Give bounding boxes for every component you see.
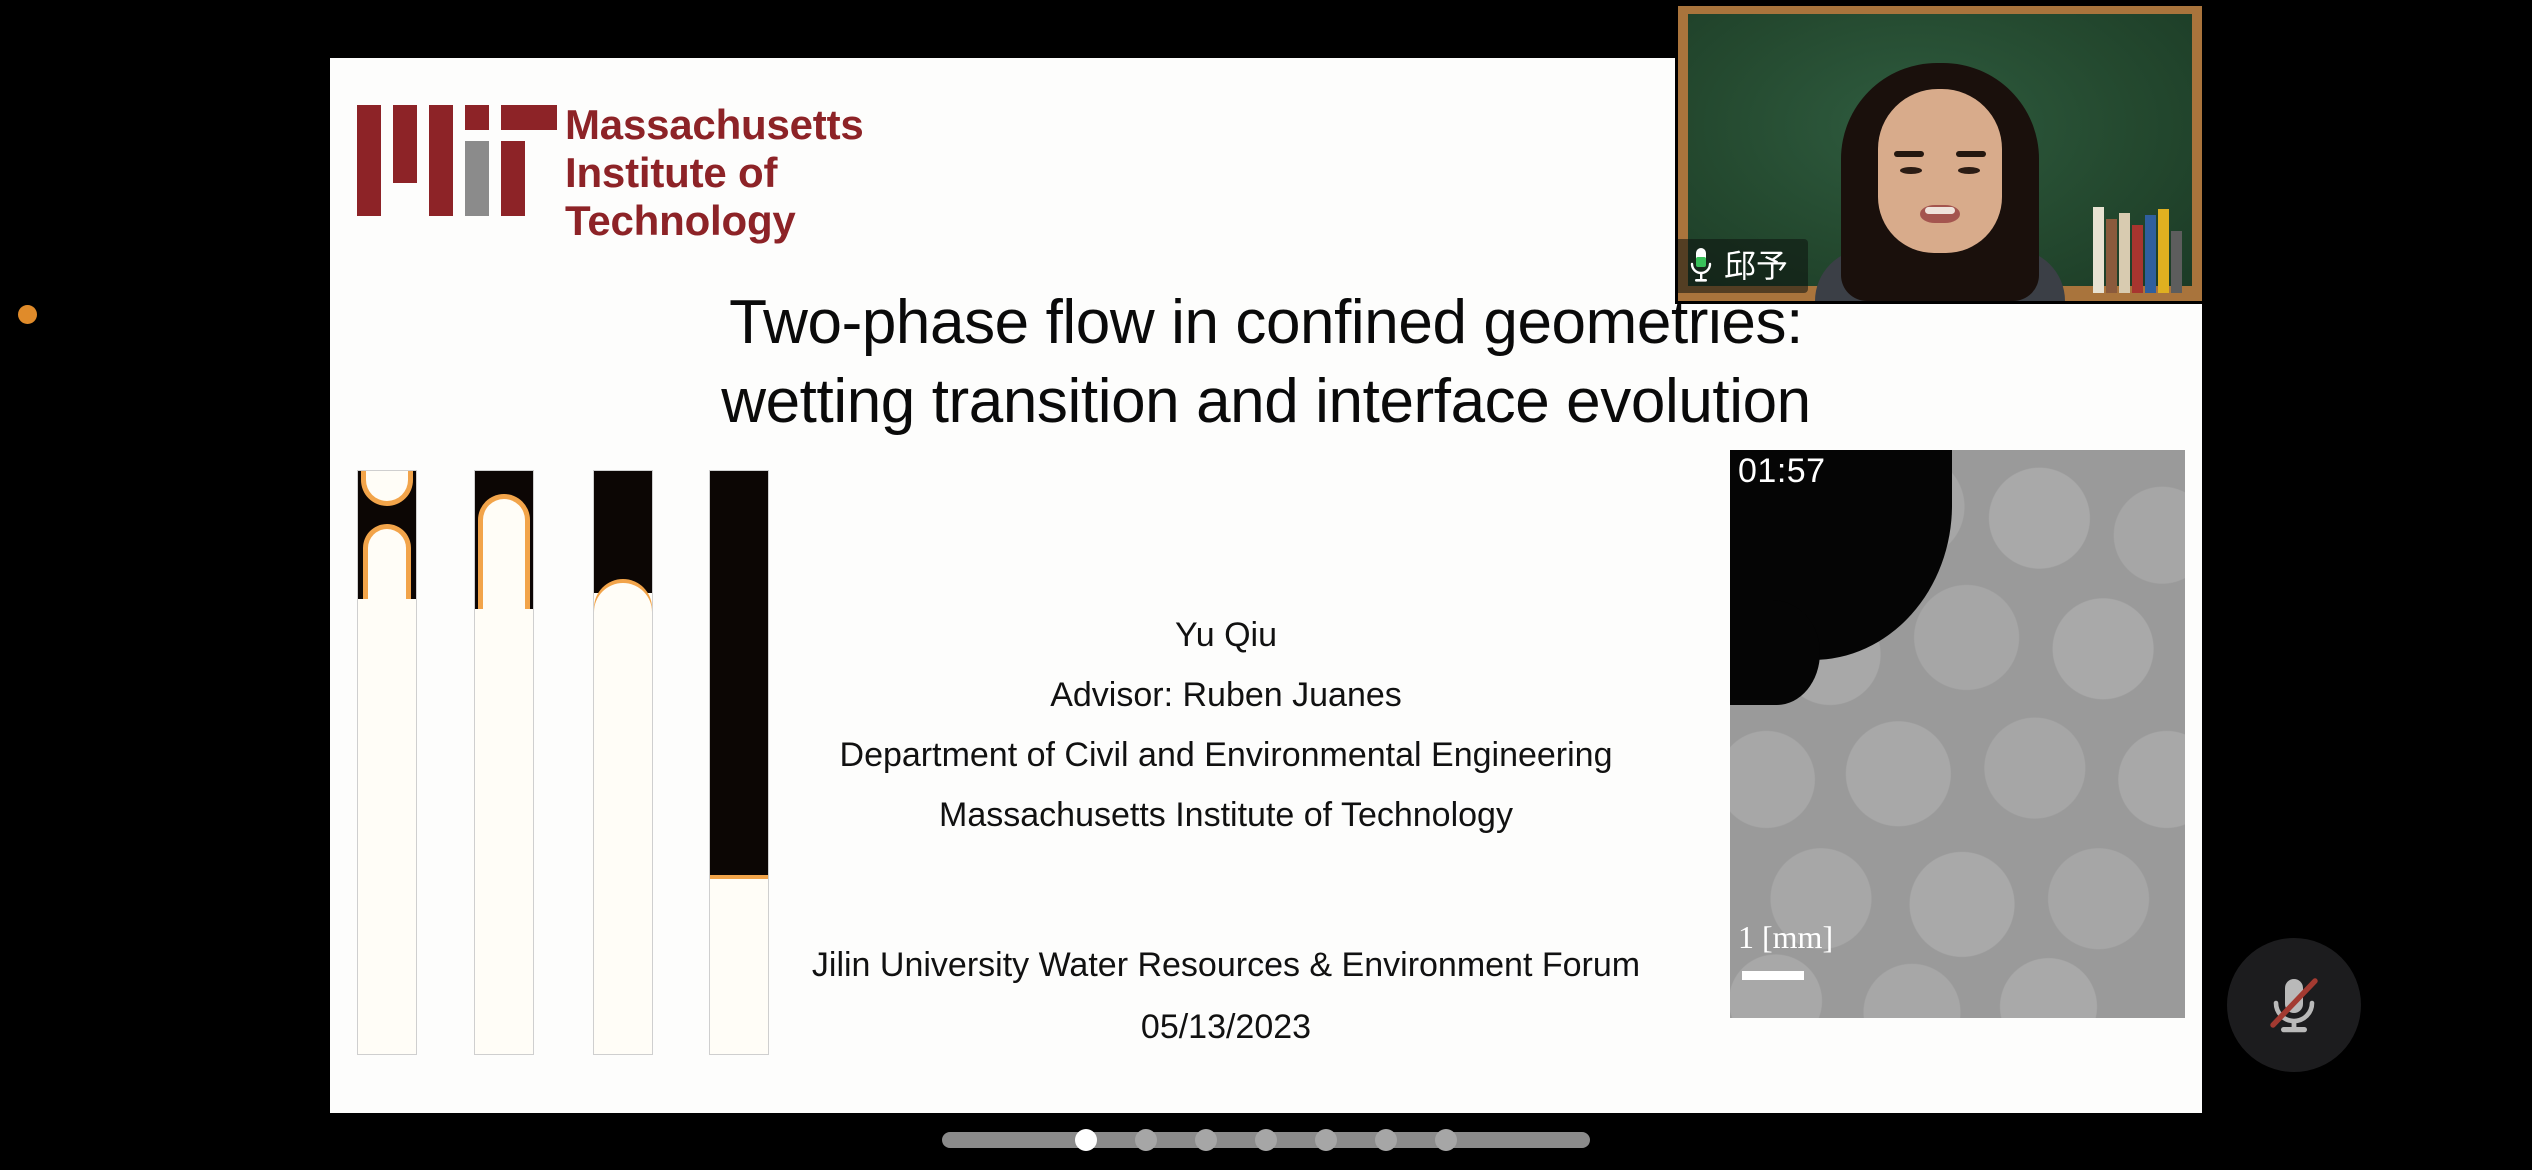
micrograph-scale-label: 1 [mm]	[1738, 919, 1833, 956]
author-name: Yu Qiu	[750, 618, 1702, 652]
presence-indicator-dot	[18, 305, 37, 324]
participant-video-tile[interactable]: 邱予	[1675, 3, 2205, 304]
bookshelf-books	[2093, 201, 2182, 293]
pagination-dot-3[interactable]	[1195, 1129, 1217, 1151]
pagination-dot-1[interactable]	[1075, 1129, 1097, 1151]
mit-logo-mark	[357, 83, 535, 216]
author-advisor: Advisor: Ruben Juanes	[750, 678, 1702, 712]
capillary-tube-3	[593, 470, 653, 1055]
pagination-dot-6[interactable]	[1375, 1129, 1397, 1151]
capillary-tube-1	[357, 470, 417, 1055]
slide-title-line-1: Two-phase flow in confined geometries:	[729, 288, 1803, 357]
pagination-dot-7[interactable]	[1435, 1129, 1457, 1151]
slide-pagination[interactable]	[942, 1132, 1590, 1148]
slide-title: Two-phase flow in confined geometries: w…	[330, 283, 2202, 442]
participant-name-label: 邱予	[1724, 250, 1788, 282]
participant-face	[1878, 89, 2002, 253]
capillary-tube-2	[474, 470, 534, 1055]
event-venue: Jilin University Water Resources & Envir…	[750, 948, 1702, 982]
mit-wordmark-line-3: Technology	[565, 197, 864, 245]
micrograph-timestamp: 01:57	[1738, 452, 1826, 491]
mit-logo: Massachusetts Institute of Technology	[357, 83, 864, 245]
author-block: Yu Qiu Advisor: Ruben Juanes Department …	[750, 618, 1702, 832]
pagination-dot-5[interactable]	[1315, 1129, 1337, 1151]
mute-toggle-button[interactable]	[2227, 938, 2361, 1072]
pagination-dot-2[interactable]	[1135, 1129, 1157, 1151]
porous-media-micrograph: 01:57 1 [mm]	[1730, 450, 2185, 1018]
micrograph-scale-bar	[1742, 971, 1804, 980]
mit-wordmark-line-2: Institute of	[565, 149, 864, 197]
event-date: 05/13/2023	[750, 1010, 1702, 1044]
participant-name-badge: 邱予	[1678, 239, 1808, 293]
mit-wordmark: Massachusetts Institute of Technology	[565, 83, 864, 245]
slide-title-line-2: wetting transition and interface evoluti…	[400, 362, 2132, 441]
microphone-active-icon	[1688, 247, 1714, 285]
author-institution: Massachusetts Institute of Technology	[750, 798, 1702, 832]
mit-wordmark-line-1: Massachusetts	[565, 101, 864, 149]
capillary-tube-series	[357, 470, 777, 1055]
author-department: Department of Civil and Environmental En…	[750, 738, 1702, 772]
screen-root: Massachusetts Institute of Technology Tw…	[0, 0, 2532, 1170]
event-block: Jilin University Water Resources & Envir…	[750, 948, 1702, 1044]
pagination-dot-4[interactable]	[1255, 1129, 1277, 1151]
micrograph-invading-phase-finger	[1730, 600, 1820, 705]
microphone-muted-icon	[2258, 967, 2330, 1044]
